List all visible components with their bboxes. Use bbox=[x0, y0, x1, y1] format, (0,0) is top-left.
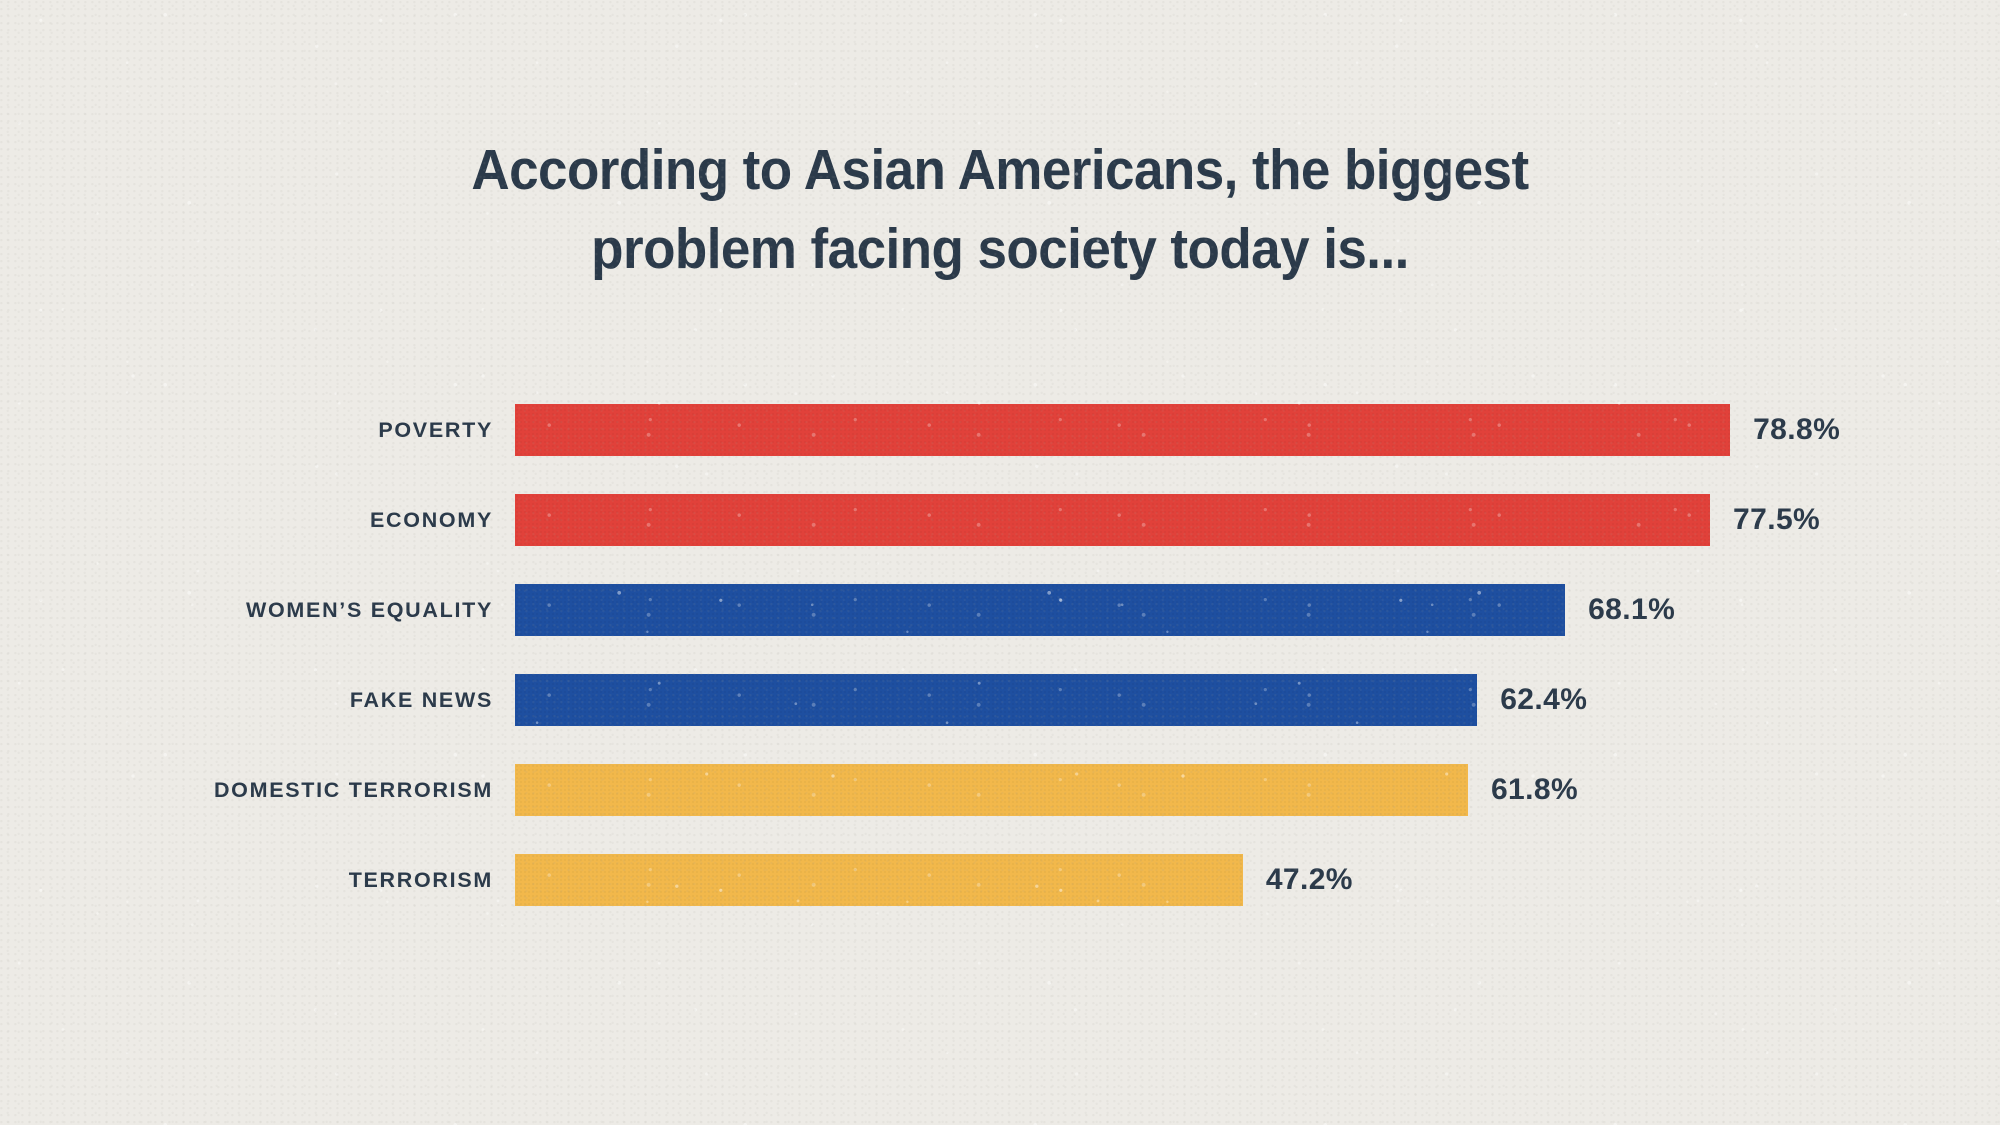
bar bbox=[515, 854, 1243, 906]
infographic-canvas: According to Asian Americans, the bigges… bbox=[0, 0, 2000, 1125]
bar-and-value: 77.5% bbox=[515, 494, 1820, 546]
bar-and-value: 62.4% bbox=[515, 674, 1587, 726]
bar-row: WOMEN’S EQUALITY68.1% bbox=[0, 584, 2000, 636]
bar-and-value: 78.8% bbox=[515, 404, 1840, 456]
bar-row: TERRORISM47.2% bbox=[0, 854, 2000, 906]
bar bbox=[515, 494, 1710, 546]
bar-row: FAKE NEWS62.4% bbox=[0, 674, 2000, 726]
bar-and-value: 61.8% bbox=[515, 764, 1578, 816]
bar-value-label: 68.1% bbox=[1588, 593, 1675, 627]
bar-and-value: 68.1% bbox=[515, 584, 1675, 636]
bar bbox=[515, 764, 1468, 816]
bar-value-label: 47.2% bbox=[1266, 863, 1353, 897]
bar-value-label: 77.5% bbox=[1733, 503, 1820, 537]
bar-row: DOMESTIC TERRORISM61.8% bbox=[0, 764, 2000, 816]
bar-category-label: FAKE NEWS bbox=[0, 688, 493, 713]
bar-value-label: 62.4% bbox=[1500, 683, 1587, 717]
bar-category-label: DOMESTIC TERRORISM bbox=[0, 778, 493, 803]
bar bbox=[515, 404, 1730, 456]
bar-category-label: POVERTY bbox=[0, 418, 493, 443]
bar-chart: POVERTY78.8%ECONOMY77.5%WOMEN’S EQUALITY… bbox=[0, 0, 2000, 1125]
bar-row: ECONOMY77.5% bbox=[0, 494, 2000, 546]
bar-value-label: 61.8% bbox=[1491, 773, 1578, 807]
bar-row: POVERTY78.8% bbox=[0, 404, 2000, 456]
bar-category-label: ECONOMY bbox=[0, 508, 493, 533]
bar bbox=[515, 674, 1477, 726]
bar-category-label: TERRORISM bbox=[0, 868, 493, 893]
bar-and-value: 47.2% bbox=[515, 854, 1353, 906]
bar bbox=[515, 584, 1565, 636]
bar-value-label: 78.8% bbox=[1753, 413, 1840, 447]
bar-category-label: WOMEN’S EQUALITY bbox=[0, 598, 493, 623]
